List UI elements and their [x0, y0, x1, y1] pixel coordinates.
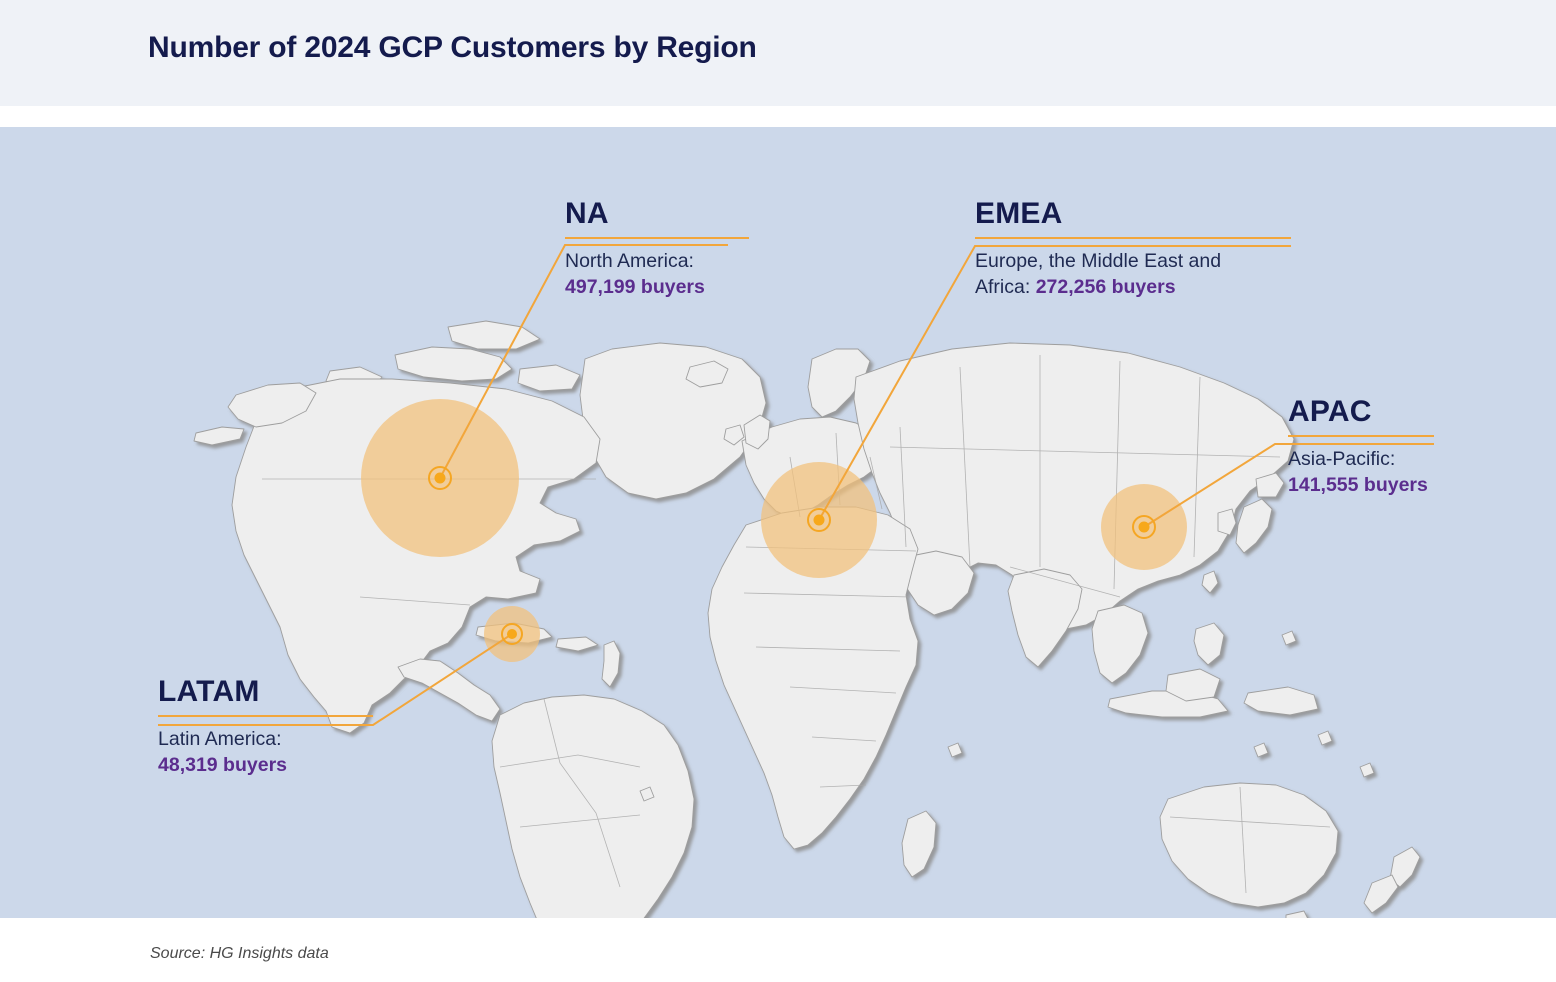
- callout-emea-code: EMEA: [975, 198, 1305, 230]
- callout-emea-description: Europe, the Middle East and Africa: 272,…: [975, 248, 1305, 301]
- callout-na-value: 497,199 buyers: [565, 276, 705, 298]
- callout-latam-code: LATAM: [158, 676, 378, 708]
- callout-na-region-name: North America:: [565, 248, 765, 275]
- world-map-svg: [0, 127, 1556, 918]
- callout-emea-region-name-line1: Europe, the Middle East and: [975, 248, 1305, 275]
- callout-apac-code: APAC: [1288, 396, 1448, 428]
- callout-na-description: North America: 497,199 buyers: [565, 248, 765, 301]
- world-map-panel: [0, 127, 1556, 918]
- source-note: Source: HG Insights data: [150, 945, 329, 963]
- callout-apac[interactable]: APAC Asia-Pacific: 141,555 buyers: [1288, 396, 1448, 499]
- callout-latam-rule: [158, 715, 373, 717]
- callout-apac-rule: [1288, 435, 1434, 437]
- callout-emea[interactable]: EMEA Europe, the Middle East and Africa:…: [975, 198, 1305, 301]
- callout-apac-description: Asia-Pacific: 141,555 buyers: [1288, 446, 1448, 499]
- callout-emea-region-name-line2: Africa:: [975, 276, 1036, 298]
- header-band: Number of 2024 GCP Customers by Region: [0, 0, 1556, 106]
- callout-latam-value: 48,319 buyers: [158, 754, 287, 776]
- callout-na-code: NA: [565, 198, 765, 230]
- marker-dot-na: [435, 473, 446, 484]
- marker-dot-latam: [507, 629, 517, 639]
- callout-apac-region-name: Asia-Pacific:: [1288, 446, 1448, 473]
- callout-latam[interactable]: LATAM Latin America: 48,319 buyers: [158, 676, 378, 779]
- callout-latam-description: Latin America: 48,319 buyers: [158, 726, 378, 779]
- infographic-root: Number of 2024 GCP Customers by Region: [0, 0, 1556, 982]
- callout-latam-region-name: Latin America:: [158, 726, 378, 753]
- page-title: Number of 2024 GCP Customers by Region: [148, 31, 757, 65]
- callout-emea-rule: [975, 237, 1291, 239]
- callout-na[interactable]: NA North America: 497,199 buyers: [565, 198, 765, 301]
- callout-na-rule: [565, 237, 749, 239]
- callout-emea-value: 272,256 buyers: [1036, 276, 1176, 298]
- callout-apac-value: 141,555 buyers: [1288, 474, 1428, 496]
- marker-dot-apac: [1139, 522, 1150, 533]
- marker-dot-emea: [814, 515, 825, 526]
